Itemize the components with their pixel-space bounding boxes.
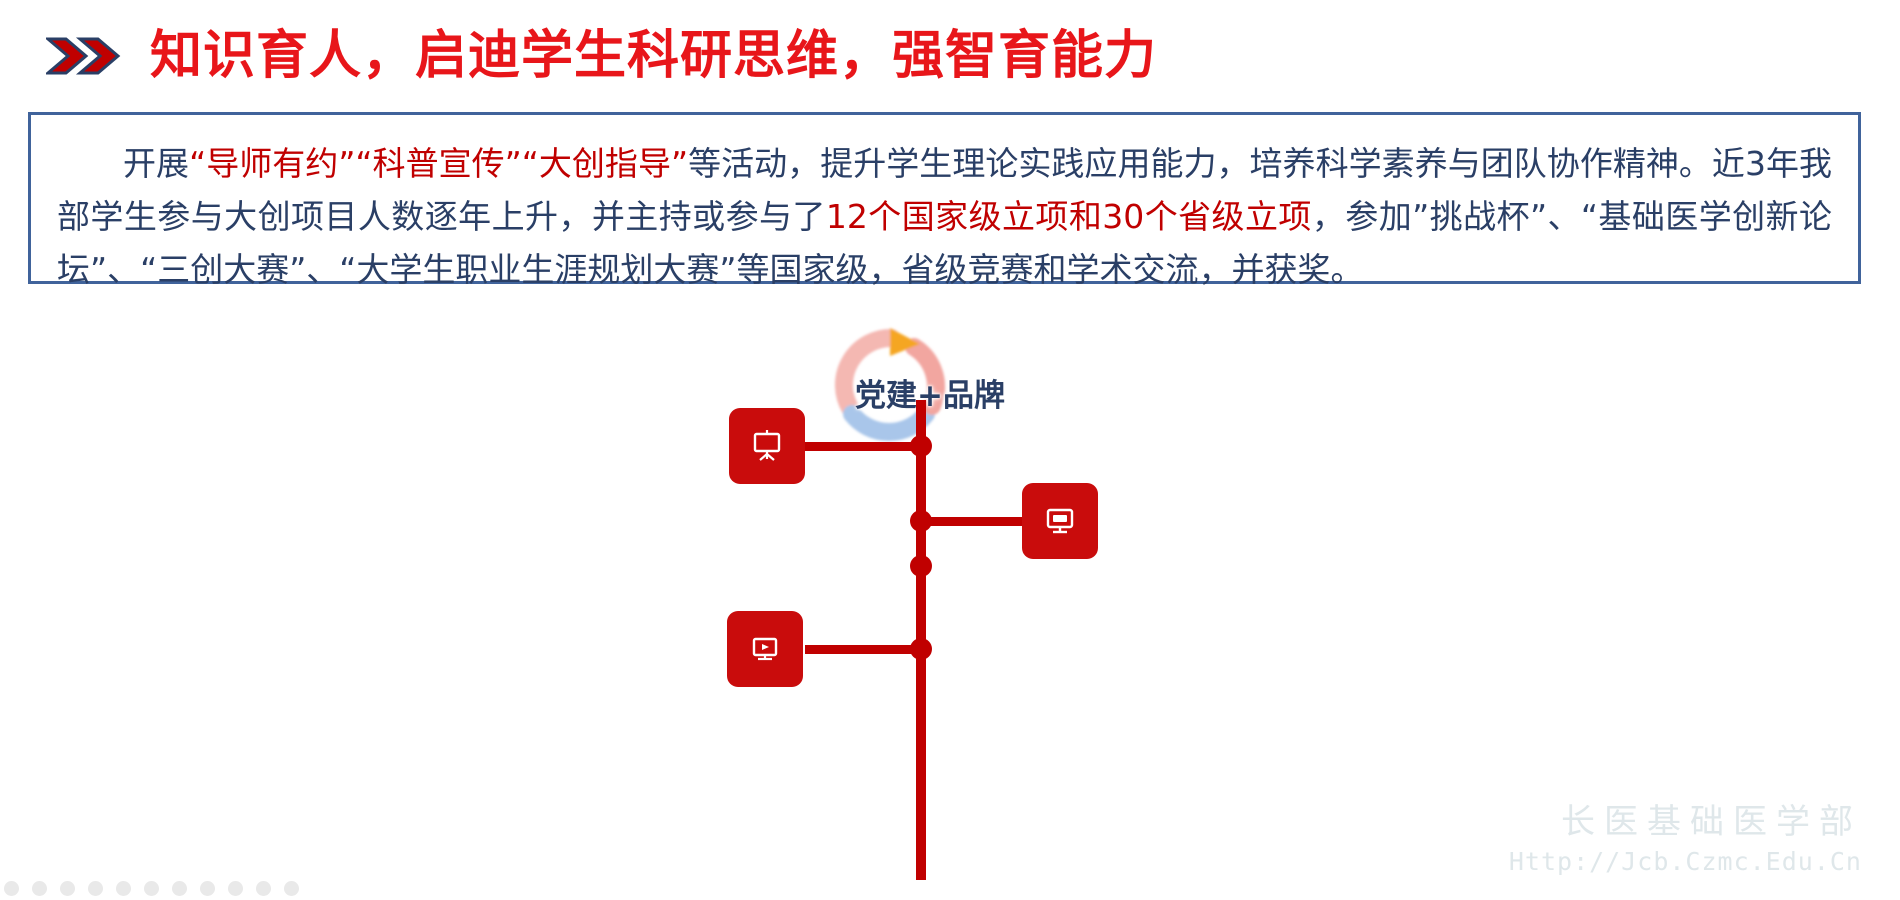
timeline-connector-4 (805, 645, 917, 654)
presentation-screen-icon[interactable] (729, 408, 805, 484)
footer-dot-row (4, 881, 299, 896)
body-segment-0: 开展 (123, 144, 189, 183)
timeline-connector-2 (926, 517, 1032, 526)
footer-dot (32, 881, 47, 896)
desktop-monitor-icon[interactable] (1022, 483, 1098, 559)
body-segment-3-highlight: 12个国家级立项和30个省级立项 (826, 197, 1312, 236)
timeline-node-3[interactable] (910, 555, 932, 577)
body-text-box: 开展“导师有约”“科普宣传”“大创指导”等活动，提升学生理论实践应用能力，培养科… (28, 112, 1861, 284)
body-paragraph: 开展“导师有约”“科普宣传”“大创指导”等活动，提升学生理论实践应用能力，培养科… (31, 115, 1858, 296)
page-title: 知识育人，启迪学生科研思维，强智育能力 (150, 30, 1157, 82)
footer-dot (60, 881, 75, 896)
media-play-screen-icon[interactable] (727, 611, 803, 687)
watermark: 长医基础医学部 Http://Jcb.Czmc.Edu.Cn (1509, 801, 1862, 878)
footer-dot (144, 881, 159, 896)
timeline-connector-1 (805, 442, 917, 451)
footer-dot (88, 881, 103, 896)
footer-dot (4, 881, 19, 896)
footer-dot (116, 881, 131, 896)
footer-dot (172, 881, 187, 896)
footer-dot (284, 881, 299, 896)
watermark-url: Http://Jcb.Czmc.Edu.Cn (1509, 846, 1862, 879)
footer-dot (200, 881, 215, 896)
slide-title-row: 知识育人，启迪学生科研思维，强智育能力 (46, 30, 1157, 82)
timeline-graphic (640, 400, 1120, 880)
watermark-org-name: 长医基础医学部 (1509, 801, 1862, 844)
body-segment-1-highlight: “导师有约”“科普宣传”“大创指导” (189, 144, 688, 183)
footer-dot (256, 881, 271, 896)
double-chevron-icon (46, 37, 124, 75)
footer-dot (228, 881, 243, 896)
